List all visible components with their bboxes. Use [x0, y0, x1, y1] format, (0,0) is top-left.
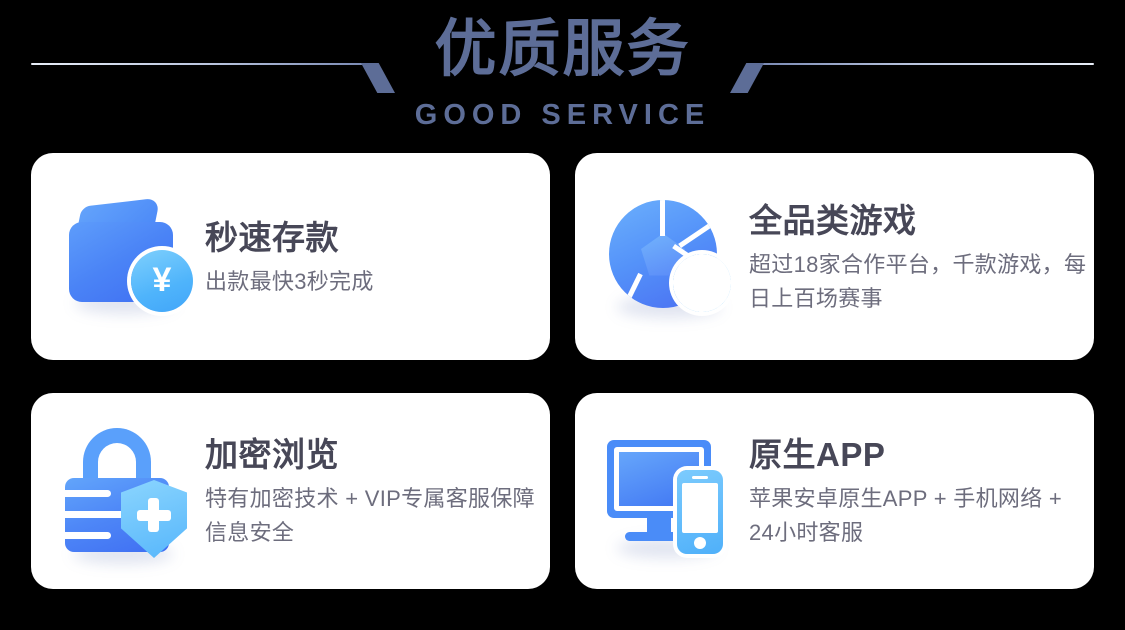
- cross-icon: [137, 510, 171, 521]
- card-title: 全品类游戏: [749, 200, 1089, 242]
- card-title: 秒速存款: [205, 217, 374, 259]
- basketball-curve-icon: [673, 258, 731, 306]
- card-text-block: 秒速存款 出款最快3秒完成: [205, 215, 374, 299]
- phone-speaker-icon: [692, 476, 708, 479]
- card-description: 出款最快3秒完成: [205, 265, 374, 299]
- card-description: 苹果安卓原生APP + 手机网络 + 24小时客服: [749, 482, 1089, 550]
- card-description: 特有加密技术 + VIP专属客服保障信息安全: [205, 482, 545, 550]
- card-text-block: 加密浏览 特有加密技术 + VIP专属客服保障信息安全: [205, 432, 545, 550]
- feature-card-deposit[interactable]: ¥ 秒速存款 出款最快3秒完成: [31, 153, 550, 360]
- card-title: 加密浏览: [205, 434, 545, 476]
- card-text-block: 原生APP 苹果安卓原生APP + 手机网络 + 24小时客服: [749, 432, 1089, 550]
- lock-stripe-icon: [65, 511, 125, 518]
- feature-card-native-app[interactable]: 原生APP 苹果安卓原生APP + 手机网络 + 24小时客服: [575, 393, 1094, 589]
- lock-shield-icon: [59, 422, 197, 560]
- card-description: 超过18家合作平台，千款游戏，每日上百场赛事: [749, 248, 1089, 316]
- lock-stripe-icon: [65, 490, 111, 497]
- card-title: 原生APP: [749, 434, 1089, 476]
- soccer-basketball-icon: [603, 188, 741, 326]
- lock-stripe-icon: [65, 532, 111, 539]
- feature-card-games[interactable]: 全品类游戏 超过18家合作平台，千款游戏，每日上百场赛事: [575, 153, 1094, 360]
- yen-coin-icon: ¥: [131, 250, 193, 312]
- page-title: 优质服务: [0, 10, 1125, 90]
- page-subtitle: GOOD SERVICE: [0, 97, 1125, 133]
- wallet-yen-icon: ¥: [59, 188, 197, 326]
- monitor-phone-icon: [603, 422, 741, 560]
- phone-screen-icon: [682, 483, 718, 533]
- page-header: 优质服务 GOOD SERVICE: [0, 0, 1125, 148]
- basketball-icon: [673, 254, 731, 312]
- card-text-block: 全品类游戏 超过18家合作平台，千款游戏，每日上百场赛事: [749, 198, 1089, 316]
- feature-card-encryption[interactable]: 加密浏览 特有加密技术 + VIP专属客服保障信息安全: [31, 393, 550, 589]
- smartphone-icon: [677, 470, 723, 554]
- feature-card-grid: ¥ 秒速存款 出款最快3秒完成: [31, 153, 1094, 589]
- phone-home-button-icon: [694, 537, 706, 549]
